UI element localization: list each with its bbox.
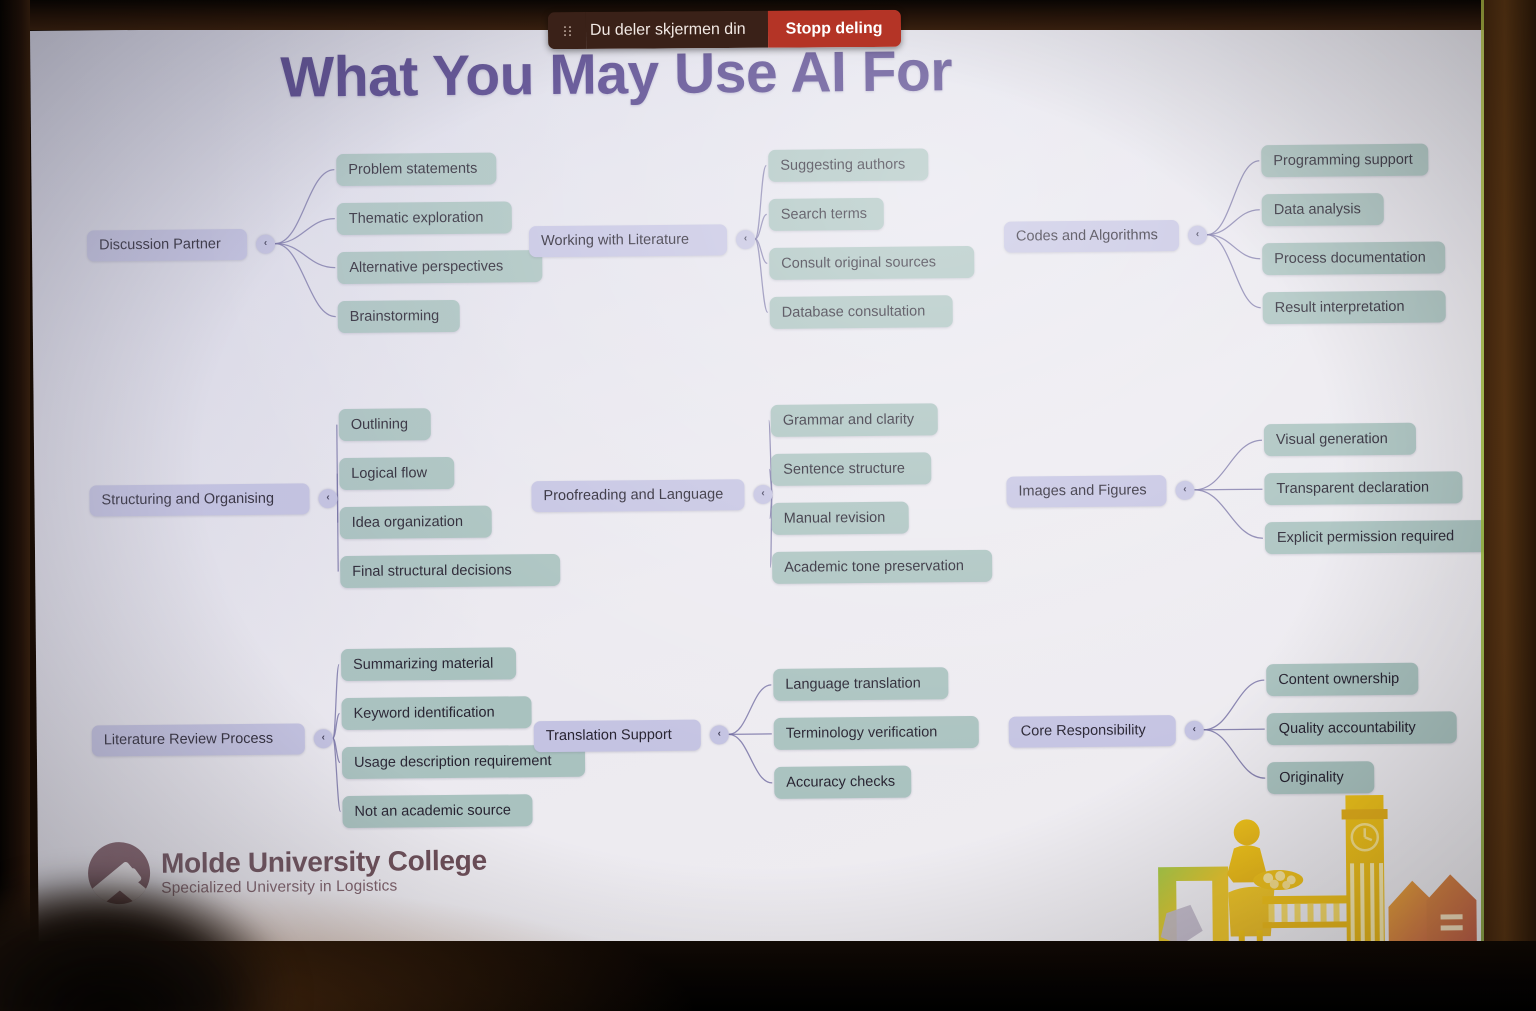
chevron-left-icon: ‹: [322, 733, 325, 743]
mindmap-parent-node-codes-and-algorithms[interactable]: Codes and Algorithms: [1004, 219, 1179, 252]
parent-node-label: Codes and Algorithms: [1016, 227, 1158, 244]
mindmap-child-node[interactable]: Alternative perspectives: [337, 250, 542, 284]
connector-line: [1207, 234, 1261, 308]
collapse-toggle-literature-review-process[interactable]: ‹: [314, 729, 333, 748]
drag-handle-icon[interactable]: [548, 12, 586, 49]
mindmap-parent-node-translation-support[interactable]: Translation Support: [534, 719, 701, 752]
child-node-label: Process documentation: [1274, 249, 1426, 266]
connector-line: [333, 738, 340, 763]
mindmap-child-node[interactable]: Idea organization: [340, 505, 492, 538]
mindmap-child-node[interactable]: Content ownership: [1266, 663, 1418, 696]
connector-line: [332, 665, 340, 739]
parent-node-label: Literature Review Process: [104, 731, 273, 749]
connector-line: [333, 714, 340, 739]
mindmap-parent-node-images-and-figures[interactable]: Images and Figures: [1006, 475, 1166, 508]
mindmap-child-node[interactable]: Not an academic source: [342, 794, 532, 828]
presentation-slide: What You May Use AI For Discussion Partn…: [30, 17, 1494, 956]
child-node-label: Result interpretation: [1275, 298, 1405, 315]
parent-node-label: Discussion Partner: [99, 236, 221, 253]
child-node-label: Final structural decisions: [352, 562, 512, 580]
chevron-left-icon: ‹: [1193, 725, 1196, 735]
mindmap-parent-node-proofreading-and-language[interactable]: Proofreading and Language: [531, 479, 744, 512]
chevron-left-icon: ‹: [1183, 485, 1186, 495]
connector-line: [274, 170, 335, 244]
collapse-toggle-translation-support[interactable]: ‹: [710, 725, 729, 744]
child-node-label: Visual generation: [1276, 431, 1388, 448]
mindmap-child-node[interactable]: Academic tone preservation: [772, 549, 992, 583]
mindmap-child-node[interactable]: Database consultation: [770, 295, 953, 329]
mindmap-child-node[interactable]: Summarizing material: [341, 647, 516, 681]
connector-line: [754, 165, 767, 239]
child-node-label: Usage description requirement: [354, 753, 552, 771]
mindmap-child-node[interactable]: Data analysis: [1262, 193, 1384, 226]
connector-line: [1204, 729, 1265, 730]
chevron-left-icon: ‹: [718, 729, 721, 739]
child-node-label: Suggesting authors: [780, 156, 905, 173]
mindmap-parent-node-working-with-literature[interactable]: Working with Literature: [529, 224, 727, 257]
child-node-label: Thematic exploration: [349, 209, 484, 226]
mindmap-child-node[interactable]: Outlining: [339, 408, 431, 441]
chevron-left-icon: ‹: [264, 239, 267, 249]
child-node-label: Accuracy checks: [786, 774, 895, 791]
mindmap-child-node[interactable]: Problem statements: [336, 152, 496, 186]
chevron-left-icon: ‹: [761, 489, 764, 499]
child-node-label: Summarizing material: [353, 655, 493, 672]
mindmap-child-node[interactable]: Result interpretation: [1263, 290, 1446, 324]
parent-node-label: Proofreading and Language: [543, 486, 723, 504]
child-node-label: Terminology verification: [786, 724, 938, 741]
mindmap-child-node[interactable]: Visual generation: [1264, 423, 1416, 456]
mindmap-child-node[interactable]: Keyword identification: [341, 696, 531, 730]
mindmap-child-node[interactable]: Terminology verification: [774, 716, 979, 750]
share-status-label: Du deler skjermen din: [586, 11, 768, 49]
chevron-left-icon: ‹: [326, 493, 329, 503]
connector-line: [755, 239, 767, 264]
mindmap-child-node[interactable]: Sentence structure: [771, 452, 931, 486]
mindmap-child-node[interactable]: Manual revision: [772, 501, 909, 534]
child-node-label: Problem statements: [348, 160, 477, 177]
child-node-label: Data analysis: [1274, 201, 1361, 218]
mindmap-child-node[interactable]: Language translation: [773, 667, 948, 701]
child-node-label: Brainstorming: [350, 308, 440, 325]
screen-share-toolbar[interactable]: Du deler skjermen din Stopp deling: [548, 10, 901, 49]
child-node-label: Transparent declaration: [1276, 480, 1429, 497]
connector-line: [729, 734, 772, 783]
child-node-label: Search terms: [781, 205, 867, 222]
mindmap-child-node[interactable]: Transparent declaration: [1264, 471, 1462, 505]
connector-line: [275, 243, 335, 268]
parent-node-label: Images and Figures: [1018, 482, 1146, 499]
mindmap-child-node[interactable]: Thematic exploration: [337, 201, 512, 235]
collapse-toggle-proofreading-and-language[interactable]: ‹: [753, 484, 772, 503]
foreground-silhouette-core: [0, 921, 250, 1011]
mindmap-child-node[interactable]: Quality accountability: [1267, 711, 1457, 745]
connector-line: [333, 738, 341, 812]
chevron-left-icon: ‹: [744, 234, 747, 244]
mindmap-child-node[interactable]: Search terms: [769, 197, 884, 230]
mindmap-child-node[interactable]: Grammar and clarity: [771, 403, 938, 437]
child-node-label: Database consultation: [782, 303, 926, 320]
collapse-toggle-core-responsibility[interactable]: ‹: [1185, 720, 1204, 739]
connector-line: [275, 243, 336, 317]
connector-line: [337, 498, 338, 571]
child-node-label: Not an academic source: [354, 802, 511, 820]
child-node-label: Manual revision: [784, 509, 886, 526]
mindmap-child-node[interactable]: Explicit permission required: [1265, 520, 1500, 554]
connector-line: [1203, 680, 1264, 730]
connector-line: [1207, 210, 1260, 235]
room-right-border: [1484, 0, 1536, 1011]
connector-line: [275, 219, 335, 244]
mindmap-parent-node-discussion-partner[interactable]: Discussion Partner: [87, 228, 247, 261]
mindmap-parent-node-literature-review-process[interactable]: Literature Review Process: [92, 723, 305, 756]
mindmap-child-node[interactable]: Programming support: [1261, 143, 1428, 177]
parent-node-label: Translation Support: [546, 727, 672, 744]
mindmap-child-node[interactable]: Brainstorming: [338, 299, 460, 332]
parent-node-label: Structuring and Organising: [101, 491, 274, 509]
child-node-label: Idea organization: [352, 513, 463, 530]
child-node-label: Explicit permission required: [1277, 528, 1454, 546]
mindmap-child-node[interactable]: Consult original sources: [769, 245, 974, 279]
child-node-label: Consult original sources: [781, 254, 936, 271]
connector-line: [337, 425, 338, 498]
child-node-label: Sentence structure: [783, 460, 905, 477]
mindmap-child-node[interactable]: Suggesting authors: [768, 148, 928, 182]
connector-line: [1207, 234, 1260, 259]
mindmap-child-node[interactable]: Logical flow: [339, 456, 454, 489]
connector-line: [755, 239, 768, 313]
mindmap-parent-node-structuring-and-organising[interactable]: Structuring and Organising: [89, 483, 309, 516]
connector-line: [1194, 489, 1262, 490]
connector-line: [755, 214, 767, 239]
child-node-label: Academic tone preservation: [784, 558, 964, 576]
mindmap-child-node[interactable]: Process documentation: [1262, 241, 1445, 275]
parent-node-label: Working with Literature: [541, 232, 689, 249]
stop-sharing-button[interactable]: Stopp deling: [767, 10, 900, 48]
child-node-label: Outlining: [351, 416, 408, 433]
collapse-toggle-images-and-figures[interactable]: ‹: [1175, 480, 1194, 499]
child-node-label: Grammar and clarity: [783, 411, 914, 428]
connector-line: [728, 685, 771, 734]
collapse-toggle-structuring-and-organising[interactable]: ‹: [318, 489, 337, 508]
connector-line: [1194, 440, 1262, 490]
chevron-left-icon: ‹: [1196, 230, 1199, 240]
child-node-label: Keyword identification: [353, 704, 494, 721]
collapse-toggle-working-with-literature[interactable]: ‹: [736, 230, 755, 249]
collapse-toggle-discussion-partner[interactable]: ‹: [256, 234, 275, 253]
mindmap-parent-node-core-responsibility[interactable]: Core Responsibility: [1009, 715, 1176, 748]
connector-line: [1194, 489, 1262, 539]
parent-node-label: Core Responsibility: [1021, 722, 1146, 739]
molde-skyline-illustration: [1149, 782, 1486, 945]
projected-slide-photo: What You May Use AI For Discussion Partn…: [0, 0, 1536, 1011]
room-left-border: [0, 0, 30, 1011]
collapse-toggle-codes-and-algorithms[interactable]: ‹: [1188, 225, 1207, 244]
connector-line: [1206, 161, 1260, 235]
child-node-label: Language translation: [785, 675, 921, 692]
child-node-label: Alternative perspectives: [349, 258, 503, 275]
child-node-label: Content ownership: [1278, 671, 1399, 688]
child-node-label: Programming support: [1273, 151, 1413, 168]
child-node-label: Quality accountability: [1279, 720, 1416, 737]
mindmap-child-node[interactable]: Accuracy checks: [774, 766, 911, 799]
child-node-label: Logical flow: [351, 465, 427, 482]
connector-line: [1204, 729, 1265, 779]
mindmap-child-node[interactable]: Final structural decisions: [340, 553, 560, 587]
